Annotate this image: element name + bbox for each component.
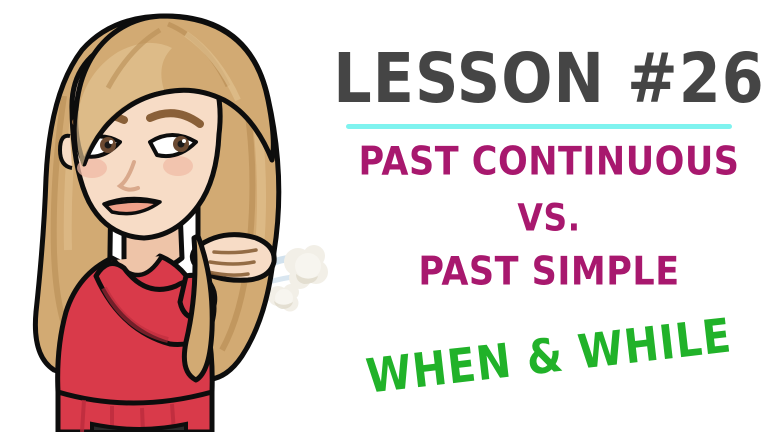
avatar-illustration [0,0,330,432]
keywords-when-while: WHEN & WHILE [329,308,768,404]
topic-line-past-simple: PAST SIMPLE [330,253,768,292]
blush-right [163,156,193,176]
topic-line-past-continuous: PAST CONTINUOUS [330,143,768,182]
topic-line-vs: VS. [330,199,768,236]
text-panel: LESSON #26 PAST CONTINUOUS VS. PAST SIMP… [330,0,768,432]
ear [60,136,72,168]
page-title: LESSON #26 [321,44,768,112]
lesson-slide: LESSON #26 PAST CONTINUOUS VS. PAST SIMP… [0,0,768,432]
avatar [0,0,330,432]
title-divider [346,124,732,129]
